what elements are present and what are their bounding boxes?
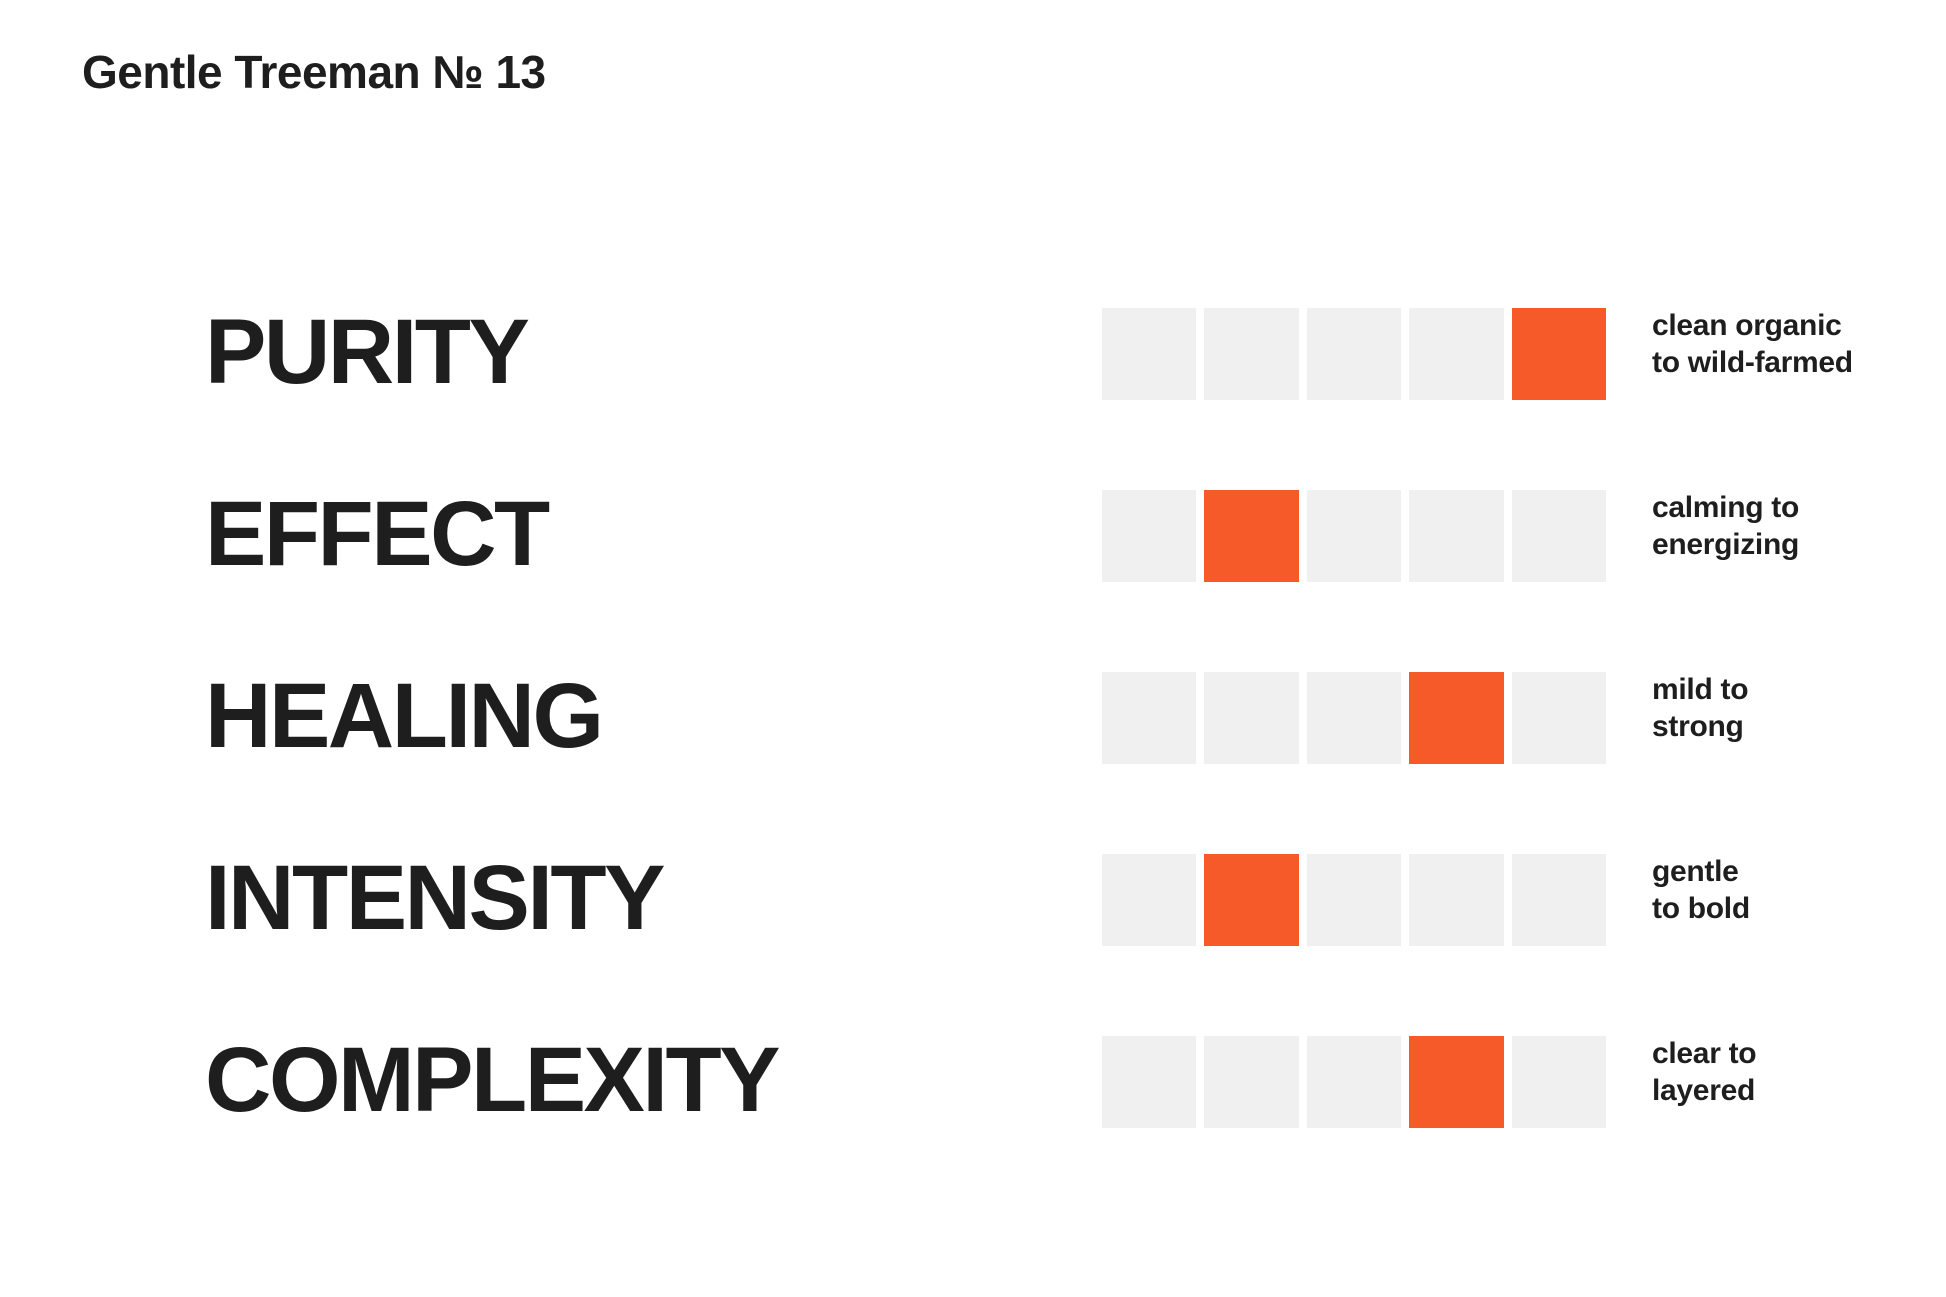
attribute-row-purity: PURITY clean organic to wild-farmed bbox=[0, 296, 1946, 478]
scale-cell-4[interactable] bbox=[1409, 854, 1503, 946]
descriptor-line-1: mild to bbox=[1652, 672, 1922, 709]
scale-cell-1[interactable] bbox=[1102, 854, 1196, 946]
scale-descriptor-purity: clean organic to wild-farmed bbox=[1652, 308, 1922, 381]
scale-cell-4[interactable] bbox=[1409, 1036, 1503, 1128]
scale-meter-purity[interactable] bbox=[1102, 308, 1606, 400]
attribute-label-healing: HEALING bbox=[205, 660, 602, 772]
descriptor-line-1: gentle bbox=[1652, 854, 1922, 891]
attribute-row-healing: HEALING mild to strong bbox=[0, 660, 1946, 842]
page-title: Gentle Treeman № 13 bbox=[82, 48, 546, 96]
scale-cell-2[interactable] bbox=[1204, 854, 1298, 946]
scale-cell-5[interactable] bbox=[1512, 1036, 1606, 1128]
scale-meter-healing[interactable] bbox=[1102, 672, 1606, 764]
scale-cell-3[interactable] bbox=[1307, 1036, 1401, 1128]
scale-descriptor-complexity: clear to layered bbox=[1652, 1036, 1922, 1109]
scale-cell-3[interactable] bbox=[1307, 490, 1401, 582]
scale-cell-1[interactable] bbox=[1102, 490, 1196, 582]
scale-cell-2[interactable] bbox=[1204, 308, 1298, 400]
descriptor-line-2: energizing bbox=[1652, 527, 1922, 564]
scale-descriptor-healing: mild to strong bbox=[1652, 672, 1922, 745]
scale-cell-5[interactable] bbox=[1512, 490, 1606, 582]
descriptor-line-2: strong bbox=[1652, 709, 1922, 746]
scale-cell-1[interactable] bbox=[1102, 1036, 1196, 1128]
scale-cell-1[interactable] bbox=[1102, 672, 1196, 764]
attribute-label-intensity: INTENSITY bbox=[205, 842, 663, 954]
scale-cell-5[interactable] bbox=[1512, 308, 1606, 400]
descriptor-line-2: to bold bbox=[1652, 891, 1922, 928]
product-spec-card: Gentle Treeman № 13 PURITY clean organic… bbox=[0, 0, 1946, 1297]
descriptor-line-2: to wild-farmed bbox=[1652, 345, 1922, 382]
scale-cell-5[interactable] bbox=[1512, 854, 1606, 946]
attribute-label-complexity: COMPLEXITY bbox=[205, 1024, 778, 1136]
descriptor-line-1: clear to bbox=[1652, 1036, 1922, 1073]
scale-meter-complexity[interactable] bbox=[1102, 1036, 1606, 1128]
attribute-row-effect: EFFECT calming to energizing bbox=[0, 478, 1946, 660]
scale-cell-4[interactable] bbox=[1409, 490, 1503, 582]
scale-cell-1[interactable] bbox=[1102, 308, 1196, 400]
attribute-label-effect: EFFECT bbox=[205, 478, 548, 590]
attribute-row-intensity: INTENSITY gentle to bold bbox=[0, 842, 1946, 1024]
attribute-label-purity: PURITY bbox=[205, 296, 527, 408]
scale-cell-3[interactable] bbox=[1307, 672, 1401, 764]
descriptor-line-1: clean organic bbox=[1652, 308, 1922, 345]
scale-cell-2[interactable] bbox=[1204, 672, 1298, 764]
scale-meter-intensity[interactable] bbox=[1102, 854, 1606, 946]
scale-cell-2[interactable] bbox=[1204, 490, 1298, 582]
scale-cell-3[interactable] bbox=[1307, 854, 1401, 946]
attribute-row-complexity: COMPLEXITY clear to layered bbox=[0, 1024, 1946, 1206]
scale-cell-4[interactable] bbox=[1409, 672, 1503, 764]
scale-descriptor-effect: calming to energizing bbox=[1652, 490, 1922, 563]
scale-cell-3[interactable] bbox=[1307, 308, 1401, 400]
scale-cell-2[interactable] bbox=[1204, 1036, 1298, 1128]
scale-meter-effect[interactable] bbox=[1102, 490, 1606, 582]
attribute-scale-list: PURITY clean organic to wild-farmed EFFE… bbox=[0, 296, 1946, 1206]
scale-cell-5[interactable] bbox=[1512, 672, 1606, 764]
descriptor-line-1: calming to bbox=[1652, 490, 1922, 527]
scale-descriptor-intensity: gentle to bold bbox=[1652, 854, 1922, 927]
descriptor-line-2: layered bbox=[1652, 1073, 1922, 1110]
scale-cell-4[interactable] bbox=[1409, 308, 1503, 400]
